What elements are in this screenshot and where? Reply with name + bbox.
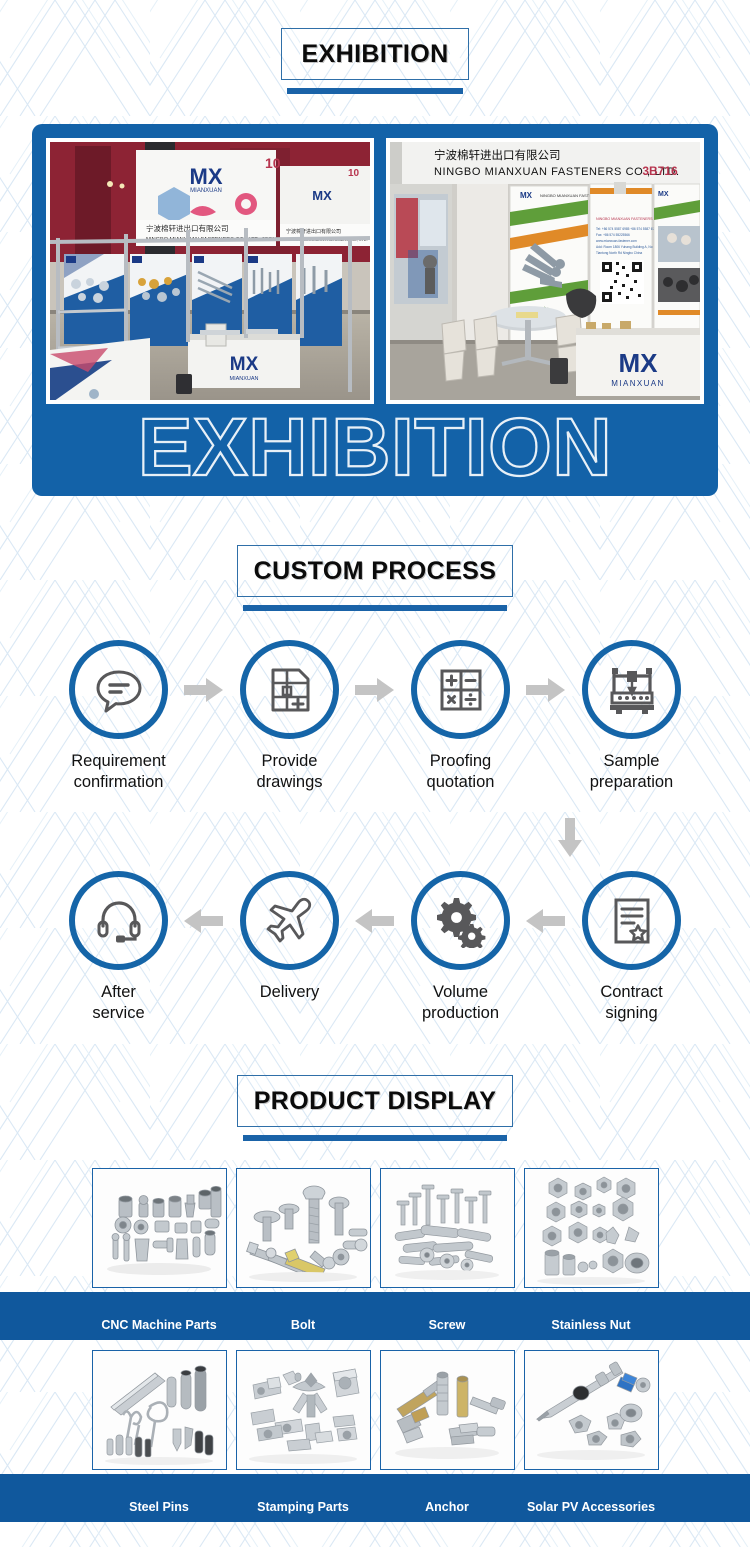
process-step-label-line2: service: [92, 1003, 144, 1024]
custom-process-section-header: CUSTOM PROCESS: [0, 545, 750, 611]
svg-text:www.mianxuan-fastener.com: www.mianxuan-fastener.com: [596, 239, 637, 243]
airplane-icon: [264, 895, 316, 947]
process-step-circle: [411, 871, 510, 970]
anchor-photo: [380, 1350, 515, 1470]
arrow-right-icon: [355, 676, 395, 704]
exhibition-panel: MX MIANXUAN MX 10 10 宁波棉轩进出口有限公司 NINGBO …: [32, 124, 718, 496]
steel-pins-photo: [92, 1350, 227, 1470]
svg-text:3B716: 3B716: [642, 164, 678, 178]
process-step-delivery[interactable]: Delivery: [226, 871, 353, 1003]
process-step-circle: [69, 640, 168, 739]
product-card-label: Stamping Parts: [226, 1500, 381, 1514]
process-step-label-line1: Sample: [590, 751, 673, 772]
speech-bubble-icon: [94, 665, 144, 715]
svg-text:MIANXUAN: MIANXUAN: [229, 376, 258, 382]
process-step-circle: [582, 871, 681, 970]
exhibition-booth-photo-2: 宁波棉轩进出口有限公司 NINGBO MIANXUAN FASTENERS CO…: [390, 142, 700, 400]
product-card-screw[interactable]: Screw: [380, 1160, 515, 1340]
svg-text:Tiantong North Rd Ningbo China: Tiantong North Rd Ningbo China: [596, 251, 642, 255]
process-step-label: Volume production: [422, 982, 499, 1024]
svg-text:Fax: +86 574 55225566: Fax: +86 574 55225566: [596, 233, 630, 237]
process-step-label: Proofing quotation: [427, 751, 495, 793]
exhibition-header-title: EXHIBITION: [301, 40, 448, 69]
exhibition-photo-1-frame[interactable]: MX MIANXUAN MX 10 10 宁波棉轩进出口有限公司 NINGBO …: [46, 138, 374, 404]
process-step-label-line1: Volume: [422, 982, 499, 1003]
product-card-label: Steel Pins: [82, 1500, 237, 1514]
screw-photo: [380, 1168, 515, 1288]
product-card-solar-pv-accessories[interactable]: Solar PV Accessories: [524, 1342, 659, 1522]
process-step-label: After service: [92, 982, 144, 1024]
cnc-machine-icon: [606, 664, 658, 716]
exhibition-photo-2-frame[interactable]: 宁波棉轩进出口有限公司 NINGBO MIANXUAN FASTENERS CO…: [386, 138, 704, 404]
svg-text:MX: MX: [190, 164, 223, 189]
process-step-label-line2: preparation: [590, 772, 673, 793]
exhibition-banner-word: EXHIBITION: [32, 402, 718, 494]
product-row-1: CNC Machine Parts: [0, 1160, 750, 1340]
process-step-label-line1: Delivery: [260, 982, 320, 1003]
product-card-label: Solar PV Accessories: [514, 1500, 669, 1514]
process-step-proofing-quotation[interactable]: Proofing quotation: [397, 640, 524, 793]
product-card-anchor[interactable]: Anchor: [380, 1342, 515, 1522]
arrow-left-icon: [184, 907, 224, 935]
process-step-label: Provide drawings: [256, 751, 322, 793]
svg-text:MX: MX: [658, 191, 669, 198]
process-step-circle: [240, 640, 339, 739]
svg-text:Tel: +86 574 5587 6985 +8: Tel: +86 574 5587 6985 +86 574 5587 6786: [596, 227, 658, 231]
product-card-cnc-machine-parts[interactable]: CNC Machine Parts: [92, 1160, 227, 1340]
process-arrow-down-wrap: [0, 818, 750, 863]
process-step-label-line2: quotation: [427, 772, 495, 793]
product-display-header-title: PRODUCT DISPLAY: [254, 1087, 497, 1116]
product-card-label: Bolt: [226, 1318, 381, 1332]
process-step-label: Requirement confirmation: [71, 751, 165, 793]
gears-icon: [434, 894, 488, 948]
process-arrow-2: [353, 640, 397, 739]
process-step-label-line1: Requirement: [71, 751, 165, 772]
process-step-label: Sample preparation: [590, 751, 673, 793]
product-card-bolt[interactable]: Bolt: [236, 1160, 371, 1340]
process-step-provide-drawings[interactable]: Provide drawings: [226, 640, 353, 793]
exhibition-section-header: EXHIBITION: [0, 28, 750, 94]
process-step-label-line2: confirmation: [71, 772, 165, 793]
svg-text:MX: MX: [230, 354, 259, 375]
custom-process-header-title: CUSTOM PROCESS: [254, 557, 497, 586]
exhibition-photo-gallery: MX MIANXUAN MX 10 10 宁波棉轩进出口有限公司 NINGBO …: [46, 138, 704, 404]
svg-text:MIANXUAN: MIANXUAN: [611, 379, 664, 388]
process-step-sample-preparation[interactable]: Sample preparation: [568, 640, 695, 793]
product-row-1-cards: CNC Machine Parts: [0, 1160, 750, 1340]
process-arrow-3: [524, 640, 568, 739]
product-card-label: Screw: [370, 1318, 525, 1332]
product-display-section-header: PRODUCT DISPLAY: [0, 1075, 750, 1141]
process-arrow-5: [353, 871, 397, 970]
solar-pv-accessories-photo: [524, 1350, 659, 1470]
product-display-header-rule: [243, 1135, 507, 1141]
process-arrow-1: [182, 640, 226, 739]
process-step-label-line2: signing: [600, 1003, 662, 1024]
process-step-label-line2: production: [422, 1003, 499, 1024]
process-step-label-line1: Proofing: [427, 751, 495, 772]
bolt-photo: [236, 1168, 371, 1288]
svg-text:宁波棉轩进出口有限公司: 宁波棉轩进出口有限公司: [434, 148, 561, 162]
svg-text:MX: MX: [619, 348, 659, 378]
custom-process-flow: Requirement confirmation Provide drawing…: [0, 640, 750, 1024]
drawing-document-icon: [265, 665, 315, 715]
product-card-label: Anchor: [370, 1500, 525, 1514]
exhibition-header-rule: [287, 88, 463, 94]
arrow-left-icon: [355, 907, 395, 935]
process-step-volume-production[interactable]: Volume production: [397, 871, 524, 1024]
product-row-2-cards: Steel Pins: [0, 1342, 750, 1522]
product-card-stamping-parts[interactable]: Stamping Parts: [236, 1342, 371, 1522]
exhibition-booth-photo-1: MX MIANXUAN MX 10 10 宁波棉轩进出口有限公司 NINGBO …: [50, 142, 370, 400]
process-step-circle: [69, 871, 168, 970]
process-step-label-line1: Contract: [600, 982, 662, 1003]
arrow-down-icon: [556, 818, 584, 858]
product-card-label: CNC Machine Parts: [82, 1318, 237, 1332]
product-card-label: Stainless Nut: [514, 1318, 669, 1332]
process-step-label-line1: After: [92, 982, 144, 1003]
process-step-requirement-confirmation[interactable]: Requirement confirmation: [55, 640, 182, 793]
product-row-2: Steel Pins: [0, 1342, 750, 1522]
process-step-circle: [582, 640, 681, 739]
contract-document-icon: [607, 896, 657, 946]
arrow-right-icon: [184, 676, 224, 704]
process-step-after-service[interactable]: After service: [55, 871, 182, 1024]
process-step-contract-signing[interactable]: Contract signing: [568, 871, 695, 1024]
cnc-machine-parts-photo: [92, 1168, 227, 1288]
process-step-circle: [240, 871, 339, 970]
custom-process-header-box: CUSTOM PROCESS: [237, 545, 513, 597]
product-card-steel-pins[interactable]: Steel Pins: [92, 1342, 227, 1522]
calculator-icon: [436, 665, 486, 715]
svg-text:MX: MX: [312, 188, 332, 203]
svg-text:EXHIBITION: EXHIBITION: [138, 405, 612, 491]
process-row-1: Requirement confirmation Provide drawing…: [0, 640, 750, 793]
exhibition-header-box: EXHIBITION: [281, 28, 469, 80]
custom-process-header-rule: [243, 605, 507, 611]
process-step-circle: [411, 640, 510, 739]
process-row-2: After service Delivery: [0, 871, 750, 1024]
stamping-parts-photo: [236, 1350, 371, 1470]
process-step-label: Contract signing: [600, 982, 662, 1024]
svg-text:MIANXUAN: MIANXUAN: [190, 188, 222, 194]
process-arrow-6: [524, 871, 568, 970]
process-step-label: Delivery: [260, 982, 320, 1003]
svg-text:10: 10: [348, 168, 360, 179]
svg-text:宁波棉轩进出口有限公司: 宁波棉轩进出口有限公司: [286, 228, 341, 235]
product-card-stainless-nut[interactable]: Stainless Nut: [524, 1160, 659, 1340]
product-display-grid: CNC Machine Parts: [0, 1160, 750, 1522]
stainless-nut-photo: [524, 1168, 659, 1288]
arrow-right-icon: [526, 676, 566, 704]
svg-text:Add: Room 1806 Yuhang Building: Add: Room 1806 Yuhang Building A, No 333: [596, 245, 659, 249]
headset-icon: [94, 896, 144, 946]
svg-text:MX: MX: [520, 191, 533, 200]
svg-text:10: 10: [265, 155, 281, 171]
process-arrow-4: [182, 871, 226, 970]
product-display-header-box: PRODUCT DISPLAY: [237, 1075, 513, 1127]
process-step-label-line2: drawings: [256, 772, 322, 793]
process-step-label-line1: Provide: [256, 751, 322, 772]
arrow-left-icon: [526, 907, 566, 935]
